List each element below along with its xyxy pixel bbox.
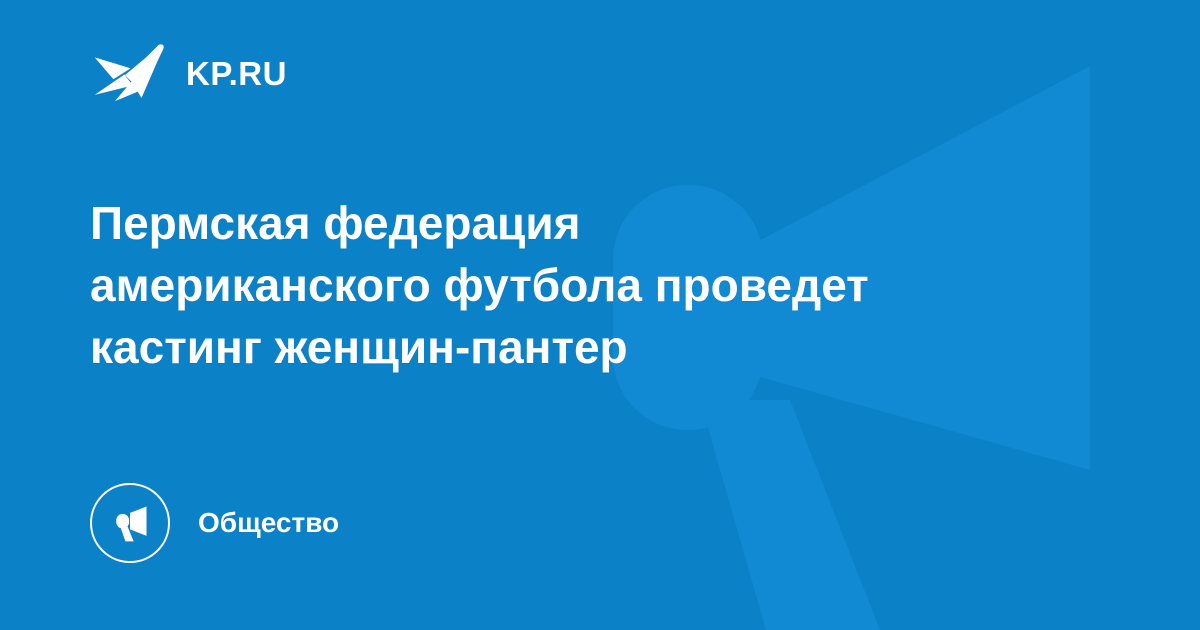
category-icon-circle <box>90 483 170 563</box>
category-label: Общество <box>198 509 339 537</box>
megaphone-icon <box>108 501 152 545</box>
headline: Пермская федерация американского футбола… <box>90 192 1090 378</box>
category-badge[interactable]: Общество <box>90 483 339 563</box>
headline-line-1: Пермская федерация <box>90 192 1090 254</box>
headline-line-3: кастинг женщин-пантер <box>90 316 1090 378</box>
swallow-bird-icon <box>90 34 168 112</box>
brand-logo[interactable]: KP.RU <box>90 34 287 112</box>
headline-line-2: американского футбола проведет <box>90 254 1090 316</box>
brand-wordmark: KP.RU <box>186 57 287 90</box>
share-card: KP.RU Пермская федерация американского ф… <box>0 0 1200 630</box>
